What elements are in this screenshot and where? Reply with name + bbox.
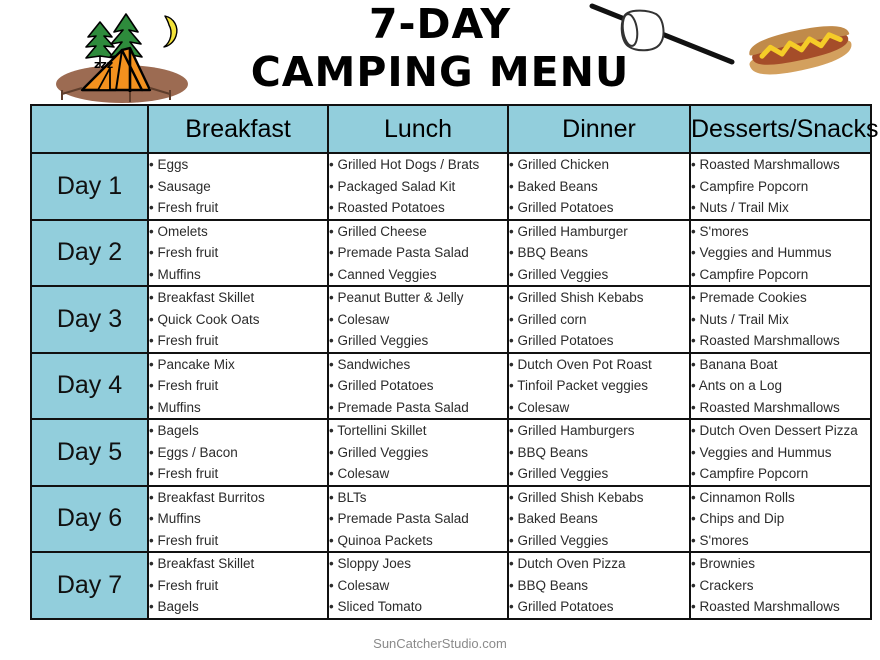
camping-menu-table: Breakfast Lunch Dinner Desserts/Snacks D… bbox=[30, 104, 872, 620]
meal-cell-dinner: Grilled ChickenBaked BeansGrilled Potato… bbox=[508, 153, 690, 220]
meal-item: Ants on a Log bbox=[691, 375, 870, 397]
meal-item: BBQ Beans bbox=[509, 575, 689, 597]
meal-item: Nuts / Trail Mix bbox=[691, 197, 870, 219]
day-label-cell: Day 6 bbox=[31, 486, 148, 553]
camping-tent-illustration: zzz bbox=[38, 6, 206, 106]
meal-item: Peanut Butter & Jelly bbox=[329, 287, 507, 309]
meal-item: Grilled Veggies bbox=[329, 330, 507, 352]
day-label-cell: Day 4 bbox=[31, 353, 148, 420]
meal-item: BBQ Beans bbox=[509, 442, 689, 464]
meal-cell-breakfast: BagelsEggs / BaconFresh fruit bbox=[148, 419, 328, 486]
meal-item: Sandwiches bbox=[329, 354, 507, 376]
meal-cell-lunch: BLTsPremade Pasta SaladQuinoa Packets bbox=[328, 486, 508, 553]
meal-item: Sliced Tomato bbox=[329, 596, 507, 618]
meal-cell-lunch: Grilled CheesePremade Pasta SaladCanned … bbox=[328, 220, 508, 287]
meal-cell-lunch: Grilled Hot Dogs / BratsPackaged Salad K… bbox=[328, 153, 508, 220]
meal-item: Muffins bbox=[149, 508, 327, 530]
meal-list: BLTsPremade Pasta SaladQuinoa Packets bbox=[329, 487, 507, 552]
meal-item: Eggs bbox=[149, 154, 327, 176]
meal-item: Fresh fruit bbox=[149, 375, 327, 397]
meal-item: Fresh fruit bbox=[149, 575, 327, 597]
meal-cell-dinner: Grilled Shish KebabsBaked BeansGrilled V… bbox=[508, 486, 690, 553]
meal-item: Quick Cook Oats bbox=[149, 309, 327, 331]
meal-cell-lunch: Sloppy JoesColesawSliced Tomato bbox=[328, 552, 508, 619]
meal-list: Cinnamon RollsChips and DipS'mores bbox=[691, 487, 870, 552]
meal-item: Premade Pasta Salad bbox=[329, 508, 507, 530]
meal-item: Fresh fruit bbox=[149, 242, 327, 264]
meal-item: BBQ Beans bbox=[509, 242, 689, 264]
meal-item: Chips and Dip bbox=[691, 508, 870, 530]
meal-item: Canned Veggies bbox=[329, 264, 507, 286]
marshmallow-on-stick-illustration bbox=[586, 0, 736, 72]
meal-item: Premade Cookies bbox=[691, 287, 870, 309]
meal-list: Grilled HamburgersBBQ BeansGrilled Veggi… bbox=[509, 420, 689, 485]
meal-list: Breakfast SkilletFresh fruitBagels bbox=[149, 553, 327, 618]
meal-cell-breakfast: EggsSausageFresh fruit bbox=[148, 153, 328, 220]
meal-cell-desserts: Cinnamon RollsChips and DipS'mores bbox=[690, 486, 871, 553]
meal-item: Breakfast Skillet bbox=[149, 553, 327, 575]
meal-list: Tortellini SkilletGrilled VeggiesColesaw bbox=[329, 420, 507, 485]
meal-cell-dinner: Grilled Shish KebabsGrilled cornGrilled … bbox=[508, 286, 690, 353]
meal-item: Roasted Potatoes bbox=[329, 197, 507, 219]
meal-item: Grilled Veggies bbox=[329, 442, 507, 464]
header-cell-blank bbox=[31, 105, 148, 153]
meal-list: OmeletsFresh fruitMuffins bbox=[149, 221, 327, 286]
meal-item: Campfire Popcorn bbox=[691, 176, 870, 198]
meal-item: S'mores bbox=[691, 530, 870, 552]
meal-item: Breakfast Burritos bbox=[149, 487, 327, 509]
meal-list: Grilled ChickenBaked BeansGrilled Potato… bbox=[509, 154, 689, 219]
meal-list: S'moresVeggies and HummusCampfire Popcor… bbox=[691, 221, 870, 286]
meal-cell-dinner: Dutch Oven Pot RoastTinfoil Packet veggi… bbox=[508, 353, 690, 420]
meal-item: Brownies bbox=[691, 553, 870, 575]
meal-cell-desserts: Dutch Oven Dessert PizzaVeggies and Humm… bbox=[690, 419, 871, 486]
day-label-cell: Day 7 bbox=[31, 552, 148, 619]
meal-item: Premade Pasta Salad bbox=[329, 397, 507, 419]
meal-cell-desserts: BrowniesCrackersRoasted Marshmallows bbox=[690, 552, 871, 619]
meal-item: Grilled Potatoes bbox=[509, 596, 689, 618]
meal-item: Grilled Hamburger bbox=[509, 221, 689, 243]
meal-item: Dutch Oven Pizza bbox=[509, 553, 689, 575]
table-row: Day 6Breakfast BurritosMuffinsFresh frui… bbox=[31, 486, 871, 553]
table-body: Day 1EggsSausageFresh fruitGrilled Hot D… bbox=[31, 153, 871, 619]
meal-item: Baked Beans bbox=[509, 176, 689, 198]
meal-item: Grilled corn bbox=[509, 309, 689, 331]
meal-item: S'mores bbox=[691, 221, 870, 243]
meal-item: Dutch Oven Dessert Pizza bbox=[691, 420, 870, 442]
meal-item: Nuts / Trail Mix bbox=[691, 309, 870, 331]
meal-item: Campfire Popcorn bbox=[691, 463, 870, 485]
meal-item: Roasted Marshmallows bbox=[691, 596, 870, 618]
meal-list: Banana BoatAnts on a LogRoasted Marshmal… bbox=[691, 354, 870, 419]
meal-item: Eggs / Bacon bbox=[149, 442, 327, 464]
meal-item: Colesaw bbox=[329, 575, 507, 597]
meal-item: Baked Beans bbox=[509, 508, 689, 530]
meal-item: Fresh fruit bbox=[149, 463, 327, 485]
meal-item: Bagels bbox=[149, 420, 327, 442]
meal-item: Roasted Marshmallows bbox=[691, 330, 870, 352]
header-cell-lunch: Lunch bbox=[328, 105, 508, 153]
meal-list: Grilled CheesePremade Pasta SaladCanned … bbox=[329, 221, 507, 286]
meal-cell-breakfast: Breakfast BurritosMuffinsFresh fruit bbox=[148, 486, 328, 553]
meal-list: Dutch Oven PizzaBBQ BeansGrilled Potatoe… bbox=[509, 553, 689, 618]
meal-cell-dinner: Grilled HamburgersBBQ BeansGrilled Veggi… bbox=[508, 419, 690, 486]
meal-item: Grilled Veggies bbox=[509, 463, 689, 485]
footer-credit: SunCatcherStudio.com bbox=[0, 636, 880, 651]
meal-item: Breakfast Skillet bbox=[149, 287, 327, 309]
meal-item: Grilled Chicken bbox=[509, 154, 689, 176]
meal-item: Colesaw bbox=[509, 397, 689, 419]
meal-item: Colesaw bbox=[329, 463, 507, 485]
meal-item: Packaged Salad Kit bbox=[329, 176, 507, 198]
page-header: zzz 7-DAY CAMPING MENU bbox=[0, 0, 880, 108]
meal-item: Omelets bbox=[149, 221, 327, 243]
header-row: Breakfast Lunch Dinner Desserts/Snacks bbox=[31, 105, 871, 153]
meal-list: Premade CookiesNuts / Trail MixRoasted M… bbox=[691, 287, 870, 352]
meal-item: Tortellini Skillet bbox=[329, 420, 507, 442]
meal-cell-breakfast: OmeletsFresh fruitMuffins bbox=[148, 220, 328, 287]
hot-dog-illustration bbox=[736, 20, 866, 84]
meal-item: Veggies and Hummus bbox=[691, 242, 870, 264]
crescent-moon-icon bbox=[164, 16, 177, 47]
meal-list: Grilled Shish KebabsBaked BeansGrilled V… bbox=[509, 487, 689, 552]
meal-list: Breakfast SkilletQuick Cook OatsFresh fr… bbox=[149, 287, 327, 352]
meal-item: Grilled Veggies bbox=[509, 264, 689, 286]
day-label-cell: Day 5 bbox=[31, 419, 148, 486]
meal-item: Roasted Marshmallows bbox=[691, 154, 870, 176]
meal-item: Veggies and Hummus bbox=[691, 442, 870, 464]
meal-cell-breakfast: Breakfast SkilletQuick Cook OatsFresh fr… bbox=[148, 286, 328, 353]
meal-item: BLTs bbox=[329, 487, 507, 509]
meal-item: Campfire Popcorn bbox=[691, 264, 870, 286]
meal-cell-breakfast: Pancake MixFresh fruitMuffins bbox=[148, 353, 328, 420]
meal-item: Fresh fruit bbox=[149, 530, 327, 552]
meal-item: Pancake Mix bbox=[149, 354, 327, 376]
meal-list: Roasted MarshmallowsCampfire PopcornNuts… bbox=[691, 154, 870, 219]
meal-item: Cinnamon Rolls bbox=[691, 487, 870, 509]
meal-item: Grilled Hot Dogs / Brats bbox=[329, 154, 507, 176]
meal-list: Dutch Oven Dessert PizzaVeggies and Humm… bbox=[691, 420, 870, 485]
table-row: Day 2OmeletsFresh fruitMuffinsGrilled Ch… bbox=[31, 220, 871, 287]
meal-cell-desserts: Premade CookiesNuts / Trail MixRoasted M… bbox=[690, 286, 871, 353]
meal-item: Sloppy Joes bbox=[329, 553, 507, 575]
meal-list: Pancake MixFresh fruitMuffins bbox=[149, 354, 327, 419]
meal-item: Grilled Potatoes bbox=[329, 375, 507, 397]
svg-text:zzz: zzz bbox=[94, 58, 113, 71]
meal-item: Colesaw bbox=[329, 309, 507, 331]
meal-list: Dutch Oven Pot RoastTinfoil Packet veggi… bbox=[509, 354, 689, 419]
meal-item: Crackers bbox=[691, 575, 870, 597]
meal-item: Grilled Veggies bbox=[509, 530, 689, 552]
meal-list: EggsSausageFresh fruit bbox=[149, 154, 327, 219]
day-label-cell: Day 3 bbox=[31, 286, 148, 353]
table-head: Breakfast Lunch Dinner Desserts/Snacks bbox=[31, 105, 871, 153]
table-row: Day 3Breakfast SkilletQuick Cook OatsFre… bbox=[31, 286, 871, 353]
meal-list: Grilled Shish KebabsGrilled cornGrilled … bbox=[509, 287, 689, 352]
meal-list: Peanut Butter & JellyColesawGrilled Vegg… bbox=[329, 287, 507, 352]
meal-item: Quinoa Packets bbox=[329, 530, 507, 552]
meal-item: Bagels bbox=[149, 596, 327, 618]
meal-cell-dinner: Grilled HamburgerBBQ BeansGrilled Veggie… bbox=[508, 220, 690, 287]
day-label-cell: Day 1 bbox=[31, 153, 148, 220]
meal-item: Grilled Shish Kebabs bbox=[509, 287, 689, 309]
meal-item: Tinfoil Packet veggies bbox=[509, 375, 689, 397]
header-cell-desserts: Desserts/Snacks bbox=[690, 105, 871, 153]
meal-item: Premade Pasta Salad bbox=[329, 242, 507, 264]
meal-item: Grilled Potatoes bbox=[509, 330, 689, 352]
table-row: Day 1EggsSausageFresh fruitGrilled Hot D… bbox=[31, 153, 871, 220]
meal-item: Fresh fruit bbox=[149, 197, 327, 219]
meal-list: Grilled Hot Dogs / BratsPackaged Salad K… bbox=[329, 154, 507, 219]
meal-cell-desserts: S'moresVeggies and HummusCampfire Popcor… bbox=[690, 220, 871, 287]
table-row: Day 7Breakfast SkilletFresh fruitBagelsS… bbox=[31, 552, 871, 619]
meal-cell-lunch: SandwichesGrilled PotatoesPremade Pasta … bbox=[328, 353, 508, 420]
meal-list: SandwichesGrilled PotatoesPremade Pasta … bbox=[329, 354, 507, 419]
meal-list: BagelsEggs / BaconFresh fruit bbox=[149, 420, 327, 485]
meal-list: Sloppy JoesColesawSliced Tomato bbox=[329, 553, 507, 618]
meal-item: Grilled Potatoes bbox=[509, 197, 689, 219]
header-cell-breakfast: Breakfast bbox=[148, 105, 328, 153]
meal-list: Breakfast BurritosMuffinsFresh fruit bbox=[149, 487, 327, 552]
meal-list: BrowniesCrackersRoasted Marshmallows bbox=[691, 553, 870, 618]
meal-item: Fresh fruit bbox=[149, 330, 327, 352]
meal-item: Grilled Shish Kebabs bbox=[509, 487, 689, 509]
meal-item: Grilled Cheese bbox=[329, 221, 507, 243]
day-label-cell: Day 2 bbox=[31, 220, 148, 287]
meal-item: Muffins bbox=[149, 397, 327, 419]
meal-item: Muffins bbox=[149, 264, 327, 286]
hotdog-icon bbox=[745, 20, 855, 81]
meal-cell-desserts: Roasted MarshmallowsCampfire PopcornNuts… bbox=[690, 153, 871, 220]
meal-list: Grilled HamburgerBBQ BeansGrilled Veggie… bbox=[509, 221, 689, 286]
meal-item: Banana Boat bbox=[691, 354, 870, 376]
meal-cell-breakfast: Breakfast SkilletFresh fruitBagels bbox=[148, 552, 328, 619]
marshmallow-icon bbox=[621, 11, 664, 51]
meal-cell-lunch: Peanut Butter & JellyColesawGrilled Vegg… bbox=[328, 286, 508, 353]
meal-item: Roasted Marshmallows bbox=[691, 397, 870, 419]
meal-cell-dinner: Dutch Oven PizzaBBQ BeansGrilled Potatoe… bbox=[508, 552, 690, 619]
meal-item: Dutch Oven Pot Roast bbox=[509, 354, 689, 376]
table-row: Day 5BagelsEggs / BaconFresh fruitTortel… bbox=[31, 419, 871, 486]
meal-cell-desserts: Banana BoatAnts on a LogRoasted Marshmal… bbox=[690, 353, 871, 420]
table-row: Day 4Pancake MixFresh fruitMuffinsSandwi… bbox=[31, 353, 871, 420]
header-cell-dinner: Dinner bbox=[508, 105, 690, 153]
meal-item: Sausage bbox=[149, 176, 327, 198]
meal-item: Grilled Hamburgers bbox=[509, 420, 689, 442]
meal-cell-lunch: Tortellini SkilletGrilled VeggiesColesaw bbox=[328, 419, 508, 486]
